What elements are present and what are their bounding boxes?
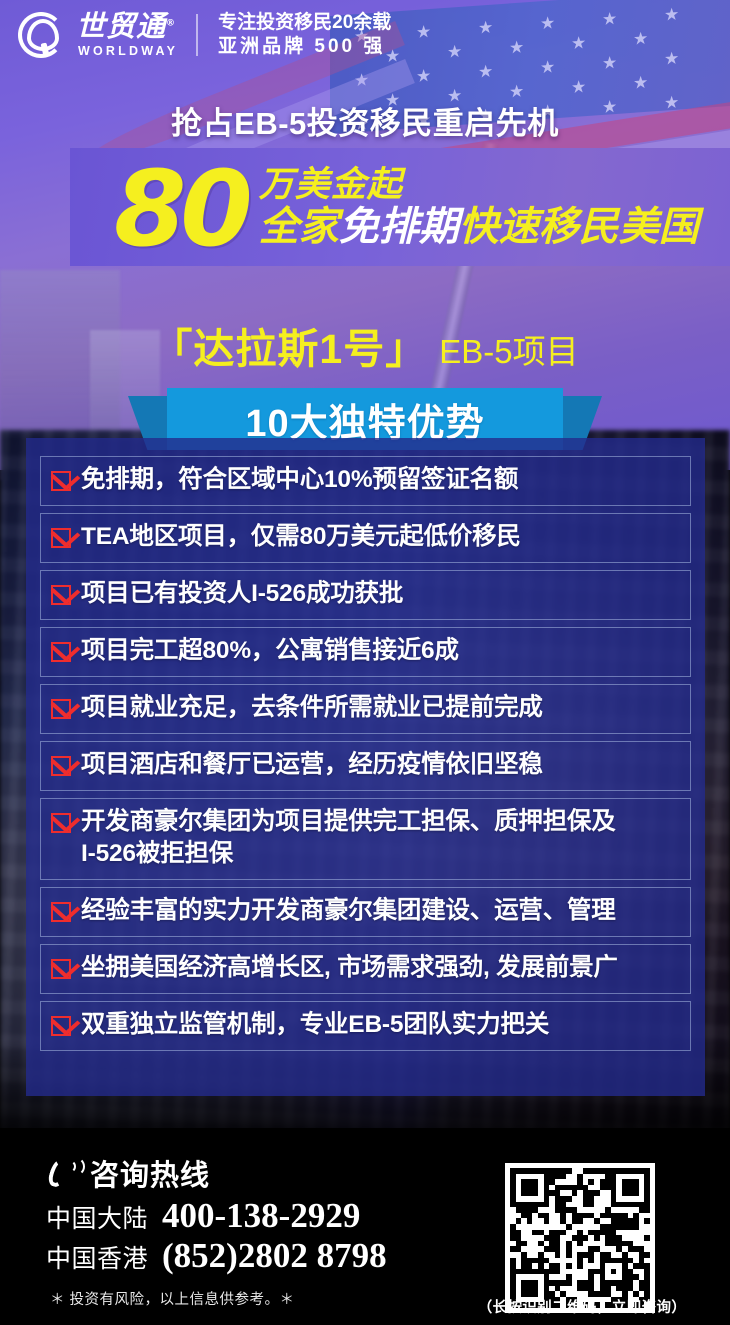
red-checkbox-icon (51, 959, 71, 979)
contact-number[interactable]: (852)2802 8798 (162, 1236, 387, 1276)
qr-caption: （长按识别二维码，立即咨询） (462, 1296, 702, 1317)
qr-code-icon[interactable] (505, 1163, 655, 1313)
flag-star-icon: ★ (571, 78, 586, 96)
price-amount: 80 (114, 167, 247, 252)
hotline-header: 咨询热线 (46, 1152, 210, 1194)
contact-region: 中国大陆 (46, 1199, 148, 1235)
advantage-text: 经验丰富的实力开发商豪尔集团建设、运营、管理 (81, 895, 616, 927)
advantage-item: 项目就业充足，去条件所需就业已提前完成 (40, 684, 691, 734)
red-checkbox-icon (51, 699, 71, 719)
brand-name-cn: 世贸通® (76, 12, 178, 41)
red-checkbox-icon (51, 585, 71, 605)
registered-mark: ® (166, 18, 176, 28)
phone-ringing-icon (46, 1156, 80, 1190)
advantage-item: 开发商豪尔集团为项目提供完工担保、质押担保及 I-526被拒担保 (40, 798, 691, 880)
brand-name-block: 世贸通® WORLDWAY (72, 12, 178, 58)
project-name: 「达拉斯1号」 (151, 326, 427, 372)
brand-tagline: 专注投资移民20余载 亚洲品牌 500 强 (218, 11, 391, 60)
price-benefit-part3: 快速移民美国 (459, 205, 699, 249)
advantage-text: 项目酒店和餐厅已运营，经历疫情依旧坚稳 (81, 749, 543, 781)
contact-row: 中国香港 (852)2802 8798 (46, 1236, 387, 1276)
project-type: EB-5项目 (439, 333, 578, 370)
advantage-item: 项目酒店和餐厅已运营，经历疫情依旧坚稳 (40, 741, 691, 791)
advantage-text: TEA地区项目，仅需80万美元起低价移民 (81, 521, 521, 553)
disclaimer-text: ＊ 投资有风险，以上信息供参考。＊ (50, 1288, 295, 1309)
price-benefit-part2: 免排期 (339, 205, 459, 249)
advantage-item: TEA地区项目，仅需80万美元起低价移民 (40, 513, 691, 563)
price-unit-label: 万美金起 (259, 166, 699, 205)
advantage-text: 项目就业充足，去条件所需就业已提前完成 (81, 692, 543, 724)
poster-root: ★★★★★★★★★★★★★★★★★★★★★★★★★★★★ 世贸通® WORLDW… (0, 0, 730, 1325)
advantage-text: 免排期，符合区域中心10%预留签证名额 (81, 464, 518, 496)
red-checkbox-icon (51, 642, 71, 662)
advantage-item: 双重独立监管机制，专业EB-5团队实力把关 (40, 1001, 691, 1051)
advantage-item: 坐拥美国经济高增长区, 市场需求强劲, 发展前景广 (40, 944, 691, 994)
advantage-text: 坐拥美国经济高增长区, 市场需求强劲, 发展前景广 (81, 952, 618, 984)
brand-tagline-line1: 专注投资移民20余载 (218, 11, 391, 35)
advantage-text: 项目已有投资人I-526成功获批 (81, 578, 403, 610)
price-banner: 80 万美金起 全家免排期快速移民美国 (70, 148, 730, 266)
brand-tagline-line2: 亚洲品牌 500 强 (218, 35, 391, 59)
worldway-emblem-icon (18, 9, 70, 61)
hotline-label: 咨询热线 (90, 1152, 210, 1194)
brand-header: 世贸通® WORLDWAY 专注投资移民20余载 亚洲品牌 500 强 (0, 0, 730, 70)
contact-row: 中国大陆 400-138-2929 (46, 1196, 360, 1236)
contact-number[interactable]: 400-138-2929 (162, 1196, 360, 1236)
red-checkbox-icon (51, 756, 71, 776)
advantage-text: 项目完工超80%，公寓销售接近6成 (81, 635, 459, 667)
red-checkbox-icon (51, 1016, 71, 1036)
page-title: 抢占EB-5投资移民重启先机 (0, 98, 730, 143)
flag-star-icon: ★ (633, 74, 648, 92)
red-checkbox-icon (51, 813, 71, 833)
red-checkbox-icon (51, 528, 71, 548)
advantage-item: 项目完工超80%，公寓销售接近6成 (40, 627, 691, 677)
advantages-list: 免排期，符合区域中心10%预留签证名额TEA地区项目，仅需80万美元起低价移民项… (40, 456, 691, 1051)
red-checkbox-icon (51, 471, 71, 491)
advantage-item: 经验丰富的实力开发商豪尔集团建设、运营、管理 (40, 887, 691, 937)
project-title: 「达拉斯1号」EB-5项目 (0, 315, 730, 375)
advantage-text: 开发商豪尔集团为项目提供完工担保、质押担保及 I-526被拒担保 (81, 806, 616, 871)
advantage-text: 双重独立监管机制，专业EB-5团队实力把关 (81, 1009, 549, 1041)
advantages-panel: 免排期，符合区域中心10%预留签证名额TEA地区项目，仅需80万美元起低价移民项… (26, 438, 705, 1096)
price-benefit-part1: 全家 (259, 205, 339, 249)
price-text-block: 万美金起 全家免排期快速移民美国 (259, 166, 699, 249)
divider (196, 14, 198, 56)
brand-name-en: WORLDWAY (78, 44, 178, 58)
red-checkbox-icon (51, 902, 71, 922)
advantage-item: 免排期，符合区域中心10%预留签证名额 (40, 456, 691, 506)
contact-region: 中国香港 (46, 1239, 148, 1275)
price-benefit-label: 全家免排期快速移民美国 (259, 205, 699, 250)
advantage-item: 项目已有投资人I-526成功获批 (40, 570, 691, 620)
brand-name-cn-text: 世贸通 (76, 9, 166, 43)
